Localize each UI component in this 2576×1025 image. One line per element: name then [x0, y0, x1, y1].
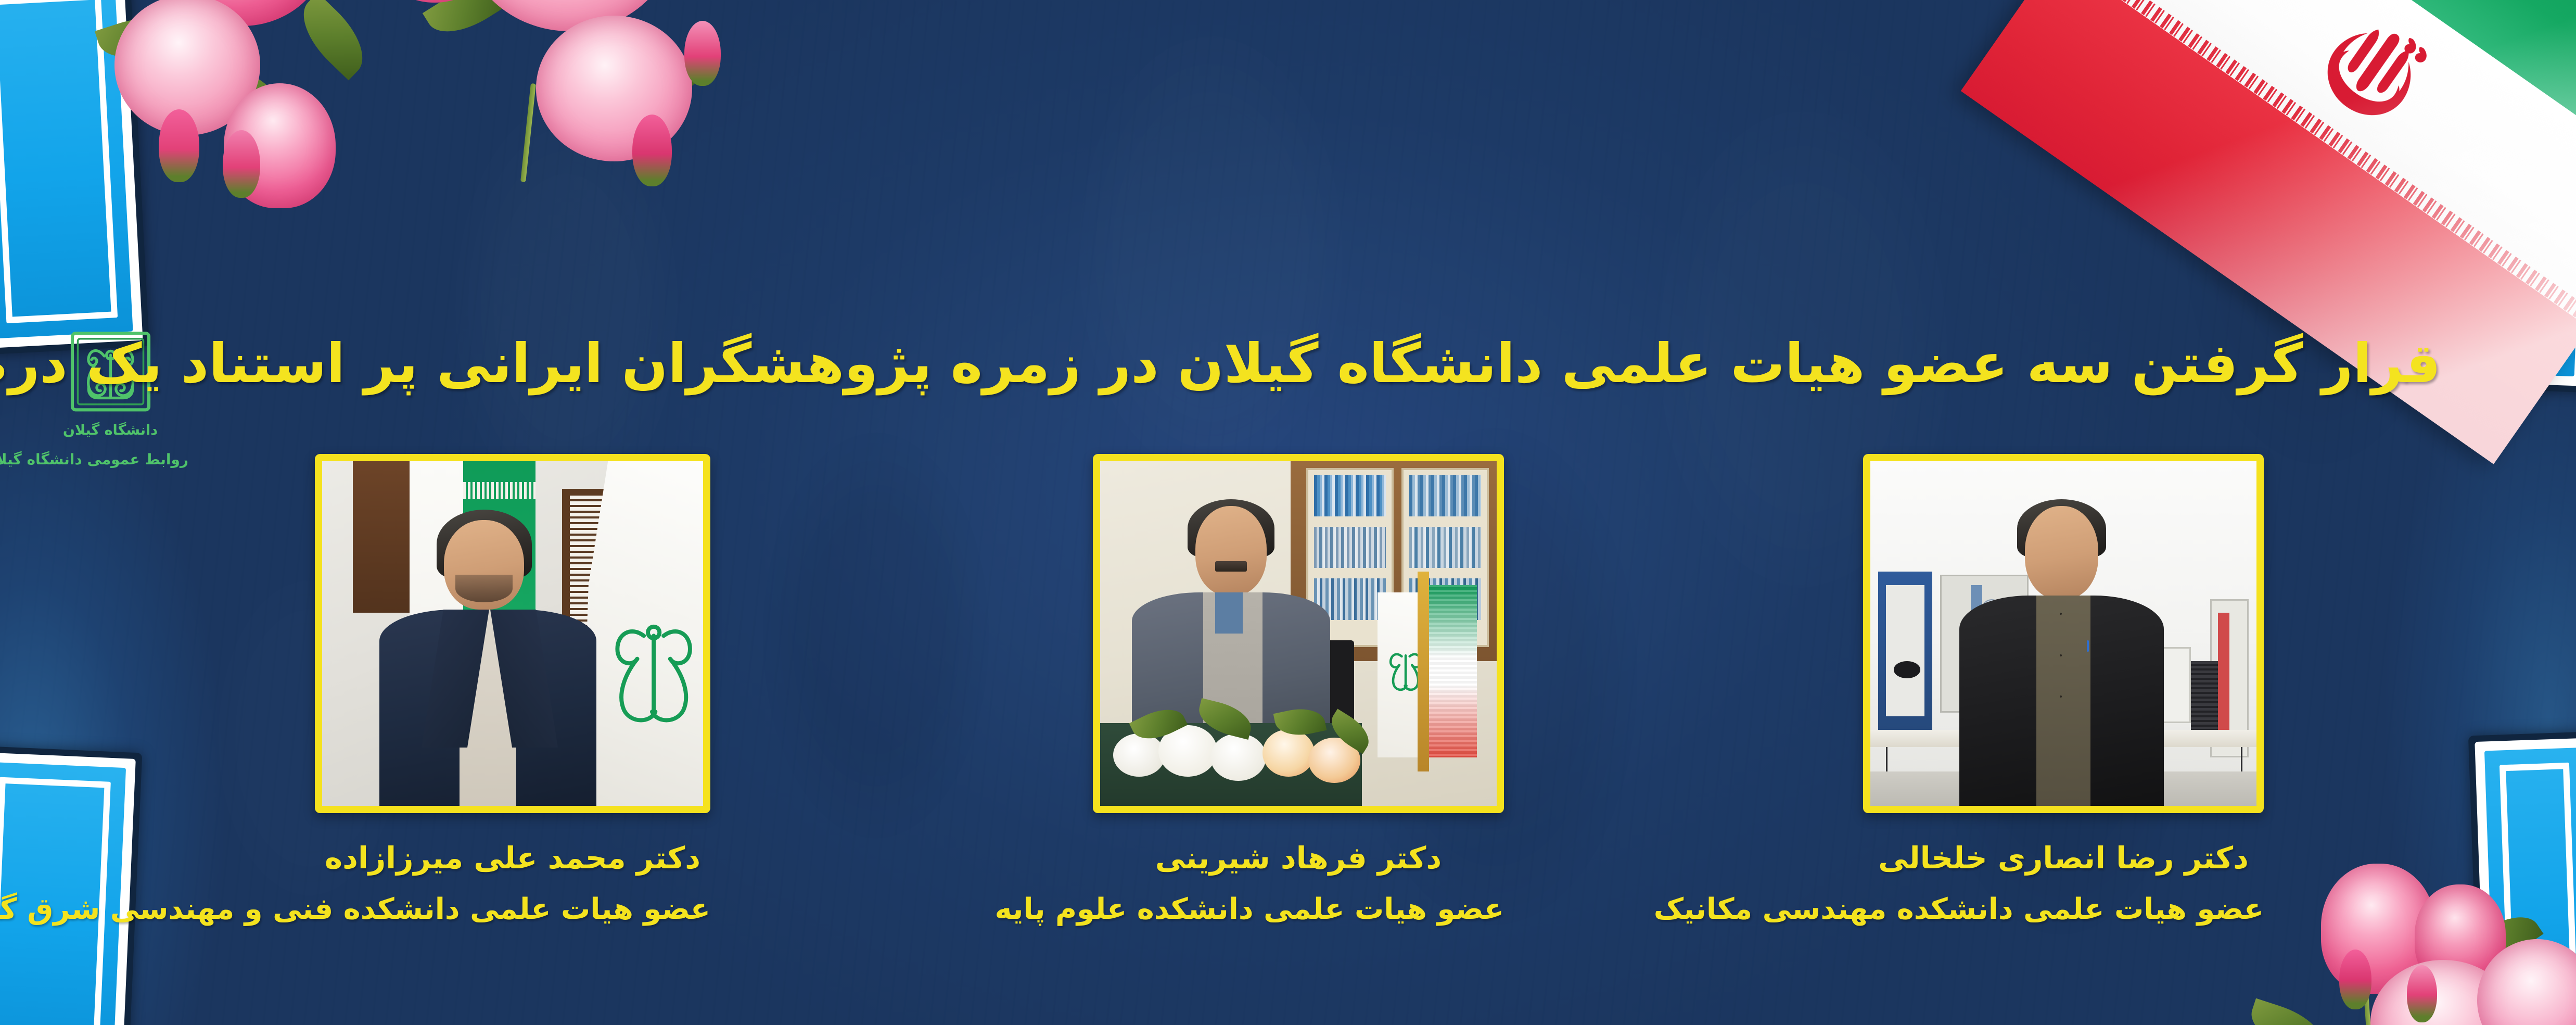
- logo-script-text: دانشگاه گیلان: [32, 423, 188, 438]
- person-card-mirzazadeh: دکتر محمد علی میرزازاده عضو هیات علمی دا…: [315, 454, 710, 926]
- guilan-flag-emblem-icon: [604, 592, 703, 771]
- person-role-ansari-khalkhali: عضو هیات علمی دانشکده مهندسی مکانیک: [1863, 892, 2264, 926]
- person-card-ansari-khalkhali: دکتر رضا انصاری خلخالی عضو هیات علمی دان…: [1863, 454, 2264, 926]
- person-photo-shirini: [1093, 454, 1504, 813]
- flowers-top-left: [68, 0, 708, 276]
- person-role-shirini: عضو هیات علمی دانشکده علوم پایه: [1093, 892, 1504, 926]
- person-photo-mirzazadeh: [315, 454, 710, 813]
- person-name-shirini: دکتر فرهاد شیرینی: [1093, 840, 1504, 876]
- announcement-banner: دانشگاه گیلان روابط عمومی دانشگاه گیلان …: [0, 0, 2576, 1025]
- frame-corner-bottom-left: [0, 745, 142, 1025]
- flowers-bottom-right: [2243, 838, 2566, 1025]
- person-name-mirzazadeh: دکتر محمد علی میرزازاده: [315, 840, 710, 876]
- person-photo-ansari-khalkhali: [1863, 454, 2264, 813]
- person-card-shirini: دکتر فرهاد شیرینی عضو هیات علمی دانشکده …: [1093, 454, 1504, 926]
- person-role-mirzazadeh: عضو هیات علمی دانشکده فنی و مهندسی شرق گ…: [315, 892, 710, 926]
- public-relations-label: روابط عمومی دانشگاه گیلان: [32, 451, 188, 468]
- page-title: قرار گرفتن سه عضو هیات علمی دانشگاه گیلا…: [203, 333, 2441, 394]
- person-name-ansari-khalkhali: دکتر رضا انصاری خلخالی: [1863, 840, 2264, 876]
